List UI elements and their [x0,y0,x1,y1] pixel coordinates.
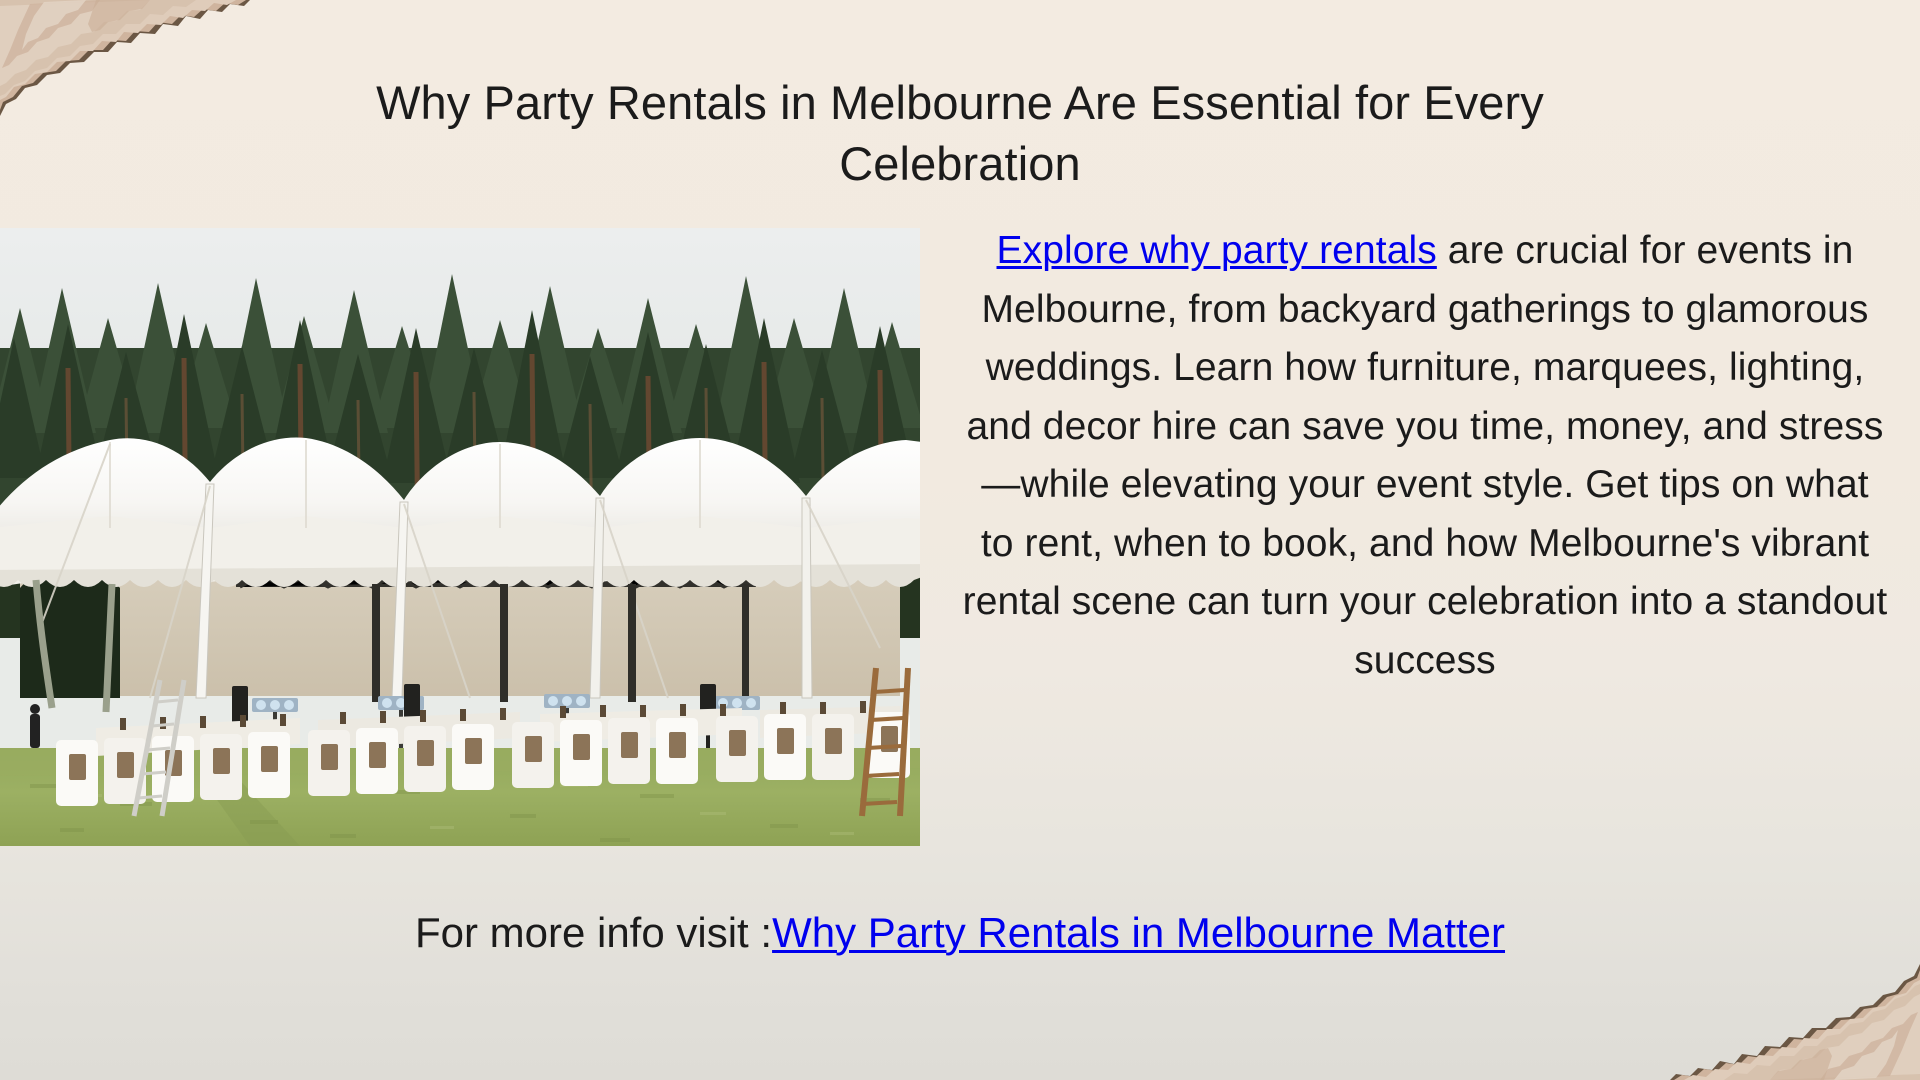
page-title: Why Party Rentals in Melbourne Are Essen… [300,72,1620,194]
why-party-rentals-matter-link[interactable]: Why Party Rentals in Melbourne Matter [772,909,1505,956]
marquee-tent-photo [0,228,920,846]
footer-cta: For more info visit :Why Party Rentals i… [160,908,1760,958]
footer-prefix: For more info visit : [415,909,772,956]
torn-paper-corner-bottom-right [1670,945,1920,1080]
main-content: Explore why party rentals are crucial fo… [0,228,1920,846]
body-paragraph-text: are crucial for events in Melbourne, fro… [963,229,1888,682]
torn-paper-corner-top-left [0,0,250,135]
body-paragraph: Explore why party rentals are crucial fo… [960,222,1890,690]
explore-party-rentals-link[interactable]: Explore why party rentals [997,229,1437,272]
